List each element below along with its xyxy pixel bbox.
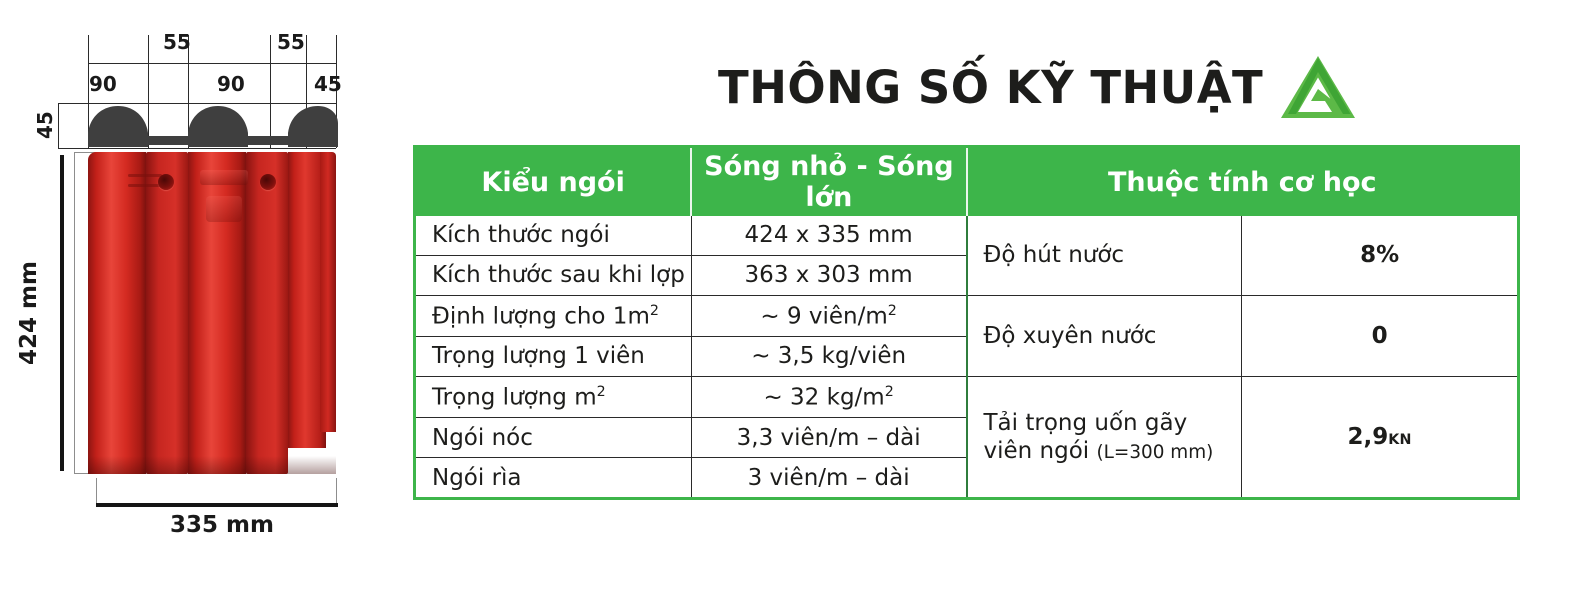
table-header-row: Kiểu ngói Sóng nhỏ - Sóng lớn Thuộc tính… — [416, 148, 1517, 216]
tile-bottom-shading — [88, 456, 336, 474]
dim-bar-width-335 — [96, 503, 338, 507]
technical-specification-table: Kiểu ngói Sóng nhỏ - Sóng lớn Thuộc tính… — [413, 145, 1520, 500]
dim-label-90-left: 90 — [89, 72, 117, 96]
mech-value: 0 — [1242, 295, 1517, 376]
page-title: THÔNG SỐ KỸ THUẬT — [718, 61, 1263, 114]
spec-value: ~ 9 viên/m2 — [691, 295, 966, 336]
superscript-2: 2 — [650, 303, 659, 319]
spec-value: 363 x 303 mm — [691, 255, 966, 295]
spec-value: ~ 32 kg/m2 — [691, 377, 966, 418]
mech-property-line2: viên ngói (L=300 mm) — [984, 437, 1226, 465]
dim-bar-height-424 — [60, 155, 64, 471]
tile-logo-emboss — [206, 196, 242, 222]
mech-property: Độ hút nước — [967, 216, 1242, 295]
mech-value: 8% — [1242, 216, 1517, 295]
table-header-mechanical-properties: Thuộc tính cơ học — [967, 148, 1518, 216]
spec-value: ~ 3,5 kg/viên — [691, 336, 966, 376]
superscript-2: 2 — [885, 384, 894, 400]
superscript-2: 2 — [888, 303, 897, 319]
table-row: Định lượng cho 1m2 ~ 9 viên/m2 Độ xuyên … — [416, 295, 1517, 336]
dim-label-335mm: 335 mm — [170, 512, 274, 538]
triangle-logo-icon — [1281, 56, 1355, 118]
superscript-2: 2 — [597, 384, 606, 400]
roof-tile-photo — [88, 152, 336, 474]
spec-name: Kích thước sau khi lợp — [416, 255, 691, 295]
spec-name: Trọng lượng m2 — [416, 377, 691, 418]
dim-label-55-right: 55 — [277, 30, 305, 54]
dim-label-55-left: 55 — [163, 30, 191, 54]
dim-cap-width-right — [336, 478, 337, 503]
dim-tick-height — [58, 103, 59, 148]
dim-label-424mm: 424 mm — [16, 258, 42, 368]
table-header-tile-type: Kiểu ngói — [416, 148, 691, 216]
dim-label-45-right: 45 — [314, 72, 342, 96]
mech-value: 2,9KN — [1242, 377, 1517, 498]
tile-brand-emboss — [200, 170, 248, 185]
roof-tile-dimension-diagram: 55 55 90 90 45 45 424 mm 335 mm — [0, 0, 400, 591]
tile-rib-1 — [128, 174, 162, 177]
mech-property: Độ xuyên nước — [967, 295, 1242, 376]
mech-property-line1: Tải trọng uốn gãy — [984, 409, 1226, 437]
tile-nail-hole-left — [158, 174, 174, 190]
mech-property: Tải trọng uốn gãy viên ngói (L=300 mm) — [967, 377, 1242, 498]
dim-cap-width-left — [96, 478, 97, 503]
tile-nail-hole-right — [260, 174, 276, 190]
mech-value-unit: KN — [1388, 432, 1412, 448]
page-title-row: THÔNG SỐ KỸ THUẬT — [718, 56, 1355, 118]
spec-value: 3,3 viên/m – dài — [691, 418, 966, 458]
mech-value-number: 2,9 — [1347, 424, 1388, 450]
dim-label-90-right: 90 — [217, 72, 245, 96]
spec-value: 424 x 335 mm — [691, 216, 966, 255]
spec-value: 3 viên/m – dài — [691, 458, 966, 497]
spec-name: Ngói rìa — [416, 458, 691, 497]
dim-line-height-424 — [74, 152, 75, 474]
table-header-wave-size: Sóng nhỏ - Sóng lớn — [691, 148, 966, 216]
spec-name: Định lượng cho 1m2 — [416, 295, 691, 336]
spec-name: Kích thước ngói — [416, 216, 691, 255]
tile-rib-2 — [128, 184, 162, 187]
spec-name: Trọng lượng 1 viên — [416, 336, 691, 376]
tile-cross-section-profile — [88, 103, 338, 149]
table-row: Kích thước ngói 424 x 335 mm Độ hút nước… — [416, 216, 1517, 255]
table-row: Trọng lượng m2 ~ 32 kg/m2 Tải trọng uốn … — [416, 377, 1517, 418]
dim-label-45-height: 45 — [33, 113, 57, 139]
dim-rule-top — [88, 63, 336, 64]
spec-name: Ngói nóc — [416, 418, 691, 458]
